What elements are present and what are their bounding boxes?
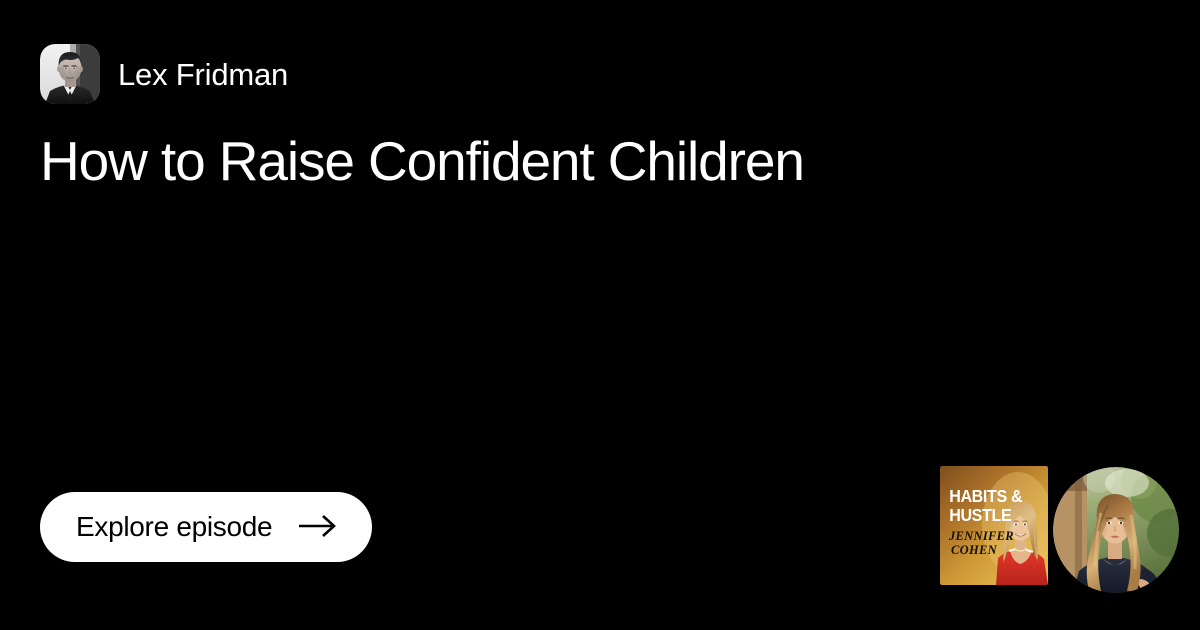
brand-name: Lex Fridman [118,59,288,90]
habits-and-hustle-podcast-cover: HABITS & HUSTLE JENNIFER COHEN [940,466,1048,585]
podcast-artwork-cluster: HABITS & HUSTLE JENNIFER COHEN [940,466,1172,594]
explore-episode-label: Explore episode [76,513,272,541]
arrow-right-icon [298,513,338,542]
avatar [40,44,100,104]
page-title: How to Raise Confident Children [40,131,1100,193]
explore-episode-button[interactable]: Explore episode [40,492,372,562]
svg-text:COHEN: COHEN [951,543,998,557]
guest-photo [1053,467,1179,593]
guest-circular-photo [1053,467,1179,593]
brand-row: Lex Fridman [40,44,288,104]
svg-text:HUSTLE: HUSTLE [949,505,1011,525]
album-art: HABITS & HUSTLE JENNIFER COHEN [940,466,1048,585]
social-share-card: Lex Fridman How to Raise Confident Child… [0,0,1200,630]
lex-fridman-portrait-avatar [40,44,100,104]
svg-text:HABITS &: HABITS & [949,486,1022,506]
svg-text:JENNIFER: JENNIFER [948,529,1014,543]
